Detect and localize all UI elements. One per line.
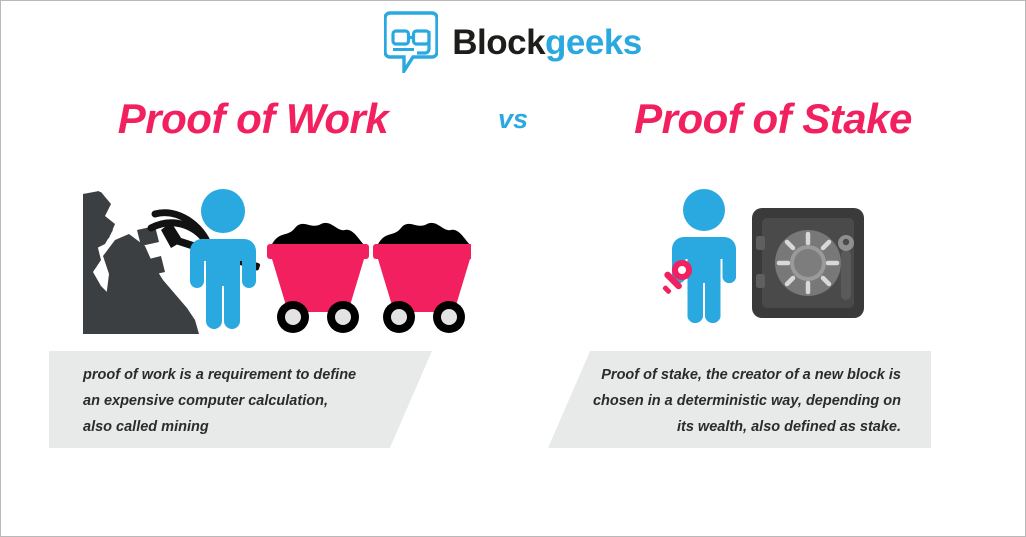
- rock-cliff-icon: [83, 191, 199, 334]
- mine-cart-icon: [267, 223, 369, 333]
- page-title-right: Proof of Stake: [558, 95, 988, 143]
- staking-illustration: [656, 186, 876, 338]
- caption-proof-of-work: proof of work is a requirement to define…: [49, 351, 432, 448]
- brand-name-part2: geeks: [545, 23, 642, 62]
- vs-label: vs: [468, 104, 558, 135]
- caption-proof-of-work-text: proof of work is a requirement to define…: [49, 351, 432, 440]
- mine-cart-icon: [373, 223, 471, 333]
- brand-name: Blockgeeks: [452, 25, 642, 60]
- caption-proof-of-stake: Proof of stake, the creator of a new blo…: [548, 351, 931, 448]
- brand-logo: Blockgeeks: [1, 11, 1025, 73]
- caption-proof-of-stake-text: Proof of stake, the creator of a new blo…: [548, 351, 931, 440]
- miner-person-icon: [190, 189, 256, 329]
- infographic-canvas: Blockgeeks Proof of Work vs Proof of Sta…: [0, 0, 1026, 537]
- speech-bubble-bg-logo-icon: [384, 11, 438, 73]
- safe-icon: [752, 208, 864, 318]
- brand-name-part1: Block: [452, 23, 545, 62]
- mining-illustration: [71, 186, 471, 338]
- stakeholder-person-icon: [672, 189, 736, 323]
- page-title-left: Proof of Work: [38, 95, 468, 143]
- headings-row: Proof of Work vs Proof of Stake: [1, 89, 1025, 149]
